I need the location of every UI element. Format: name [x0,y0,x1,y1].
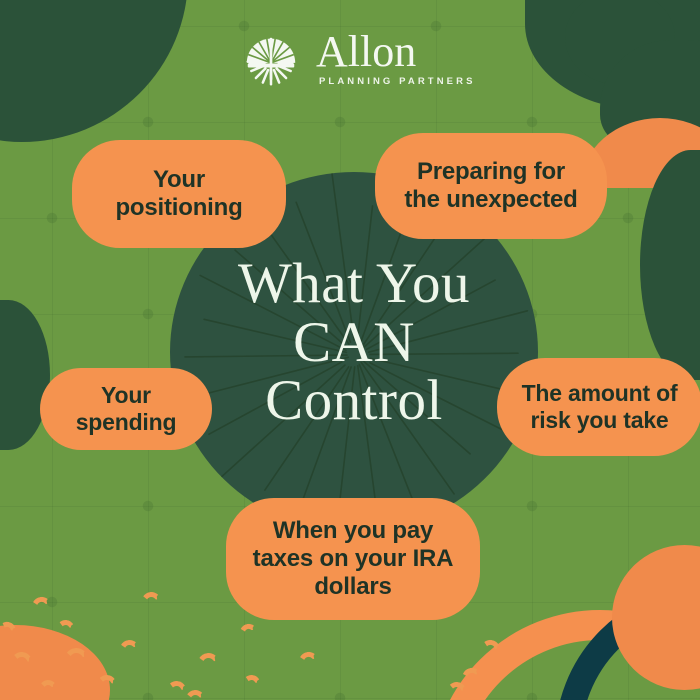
brand-name: Allon [316,31,476,73]
decor-tick-mark [139,591,162,606]
pill-your-spending[interactable]: Your spending [40,368,212,450]
brand-text: Allon PLANNING PARTNERS [316,31,476,87]
pill-preparing-unexpected[interactable]: Preparing for the unexpected [375,133,607,239]
pill-your-positioning[interactable]: Your positioning [72,140,286,248]
decor-tick-mark [296,650,320,667]
pill-amount-of-risk[interactable]: The amount of risk you take [497,358,700,456]
decor-tick-mark [479,638,503,655]
brand-tagline: PLANNING PARTNERS [319,76,476,87]
palm-fan-sunburst-icon [240,28,302,90]
pill-ira-taxes[interactable]: When you pay taxes on your IRA dollars [226,498,480,620]
decor-tick-mark [117,638,141,655]
decor-tick-mark [195,651,221,668]
poster-canvas: What You CAN Control [0,0,700,700]
decor-blob-top-left [0,0,188,142]
decor-blob-left-edge [0,300,50,450]
page-title: What You CAN Control [170,255,538,431]
decor-tick-mark [29,595,53,612]
decor-tick-mark [165,680,189,696]
decor-tick-mark [241,673,263,688]
decor-tick-mark [55,619,76,634]
decor-tick-mark [237,622,259,638]
brand-logo[interactable]: Allon PLANNING PARTNERS [240,28,476,90]
